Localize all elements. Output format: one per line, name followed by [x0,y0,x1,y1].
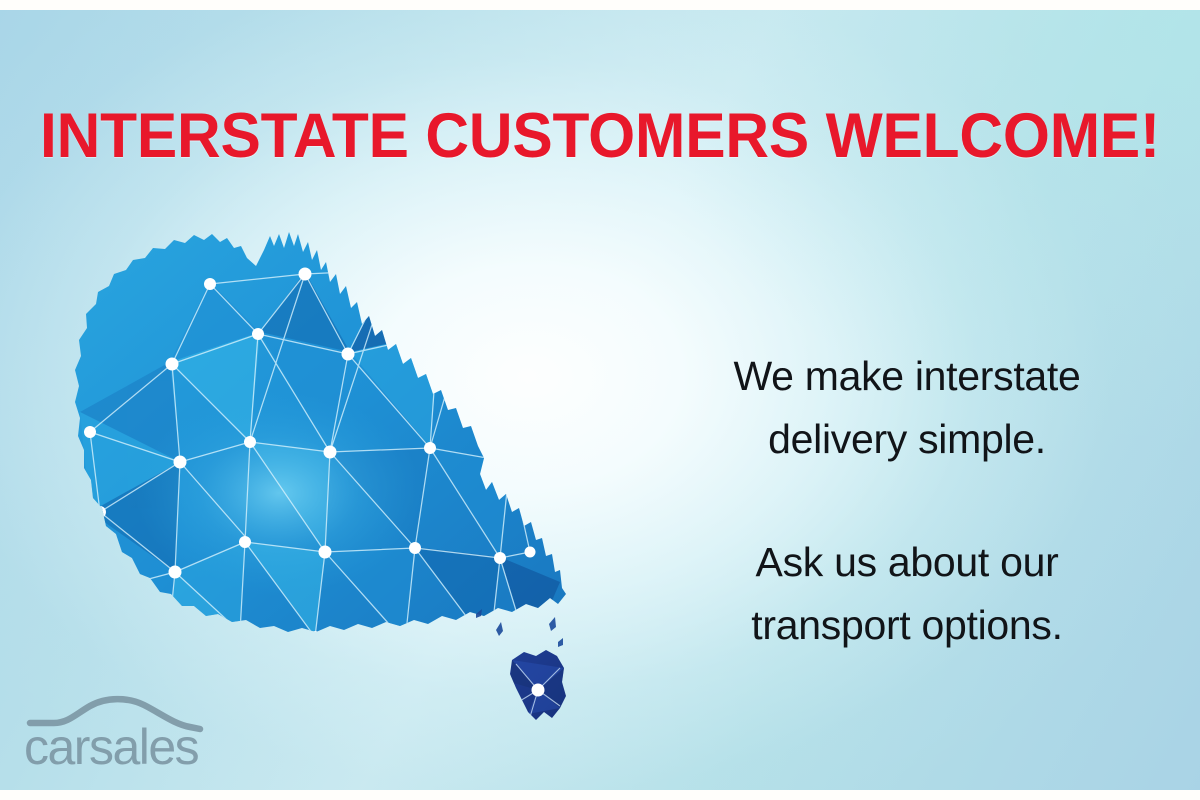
carsales-logo: carsales [24,694,214,772]
copy-line-1: We make interstate [672,345,1142,408]
copy-line-2: delivery simple. [672,408,1142,471]
copy-block: We make interstate delivery simple. Ask … [672,345,1142,657]
carsales-wordmark: carsales [24,719,199,772]
map-tasmania [490,642,590,742]
map-mainland [60,212,680,752]
interstate-customers-banner: INTERSTATE CUSTOMERS WELCOME! [0,0,1200,800]
map-offshore-islets [476,609,563,647]
headline: INTERSTATE CUSTOMERS WELCOME! [24,103,1176,169]
copy-paragraph-2: Ask us about our transport options. [672,531,1142,657]
copy-paragraph-1: We make interstate delivery simple. [672,345,1142,471]
copy-line-3: Ask us about our [672,531,1142,594]
australia-network-map [60,212,680,752]
copy-line-4: transport options. [672,594,1142,657]
